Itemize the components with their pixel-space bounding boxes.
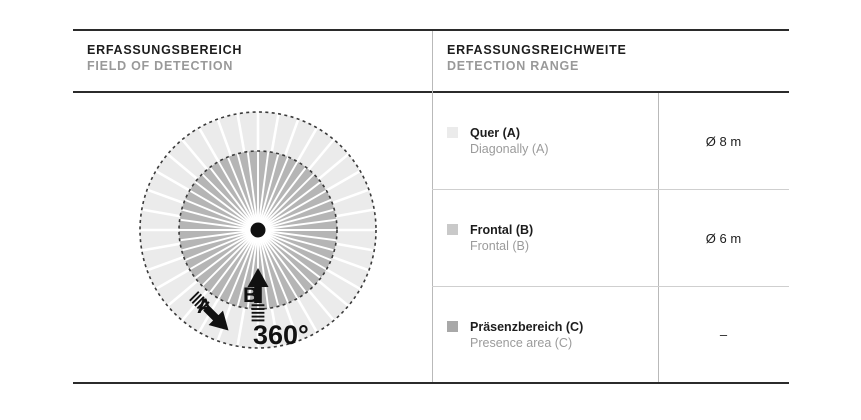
value-cell: Ø 6 m [658, 190, 789, 286]
range-value: – [720, 327, 727, 342]
legend-swatch-quer-a [447, 127, 458, 138]
table-row: Präsenzbereich (C) Presence area (C) – [432, 287, 789, 382]
legend-label-en: Diagonally (A) [470, 141, 549, 157]
legend-label-de: Quer (A) [470, 125, 549, 141]
value-cell: – [658, 287, 789, 382]
column-header-field-of-detection-en: FIELD OF DETECTION [87, 58, 242, 74]
table-bottom-rule [73, 382, 789, 384]
legend-cell: Frontal (B) Frontal (B) [432, 190, 658, 286]
range-value: Ø 6 m [706, 231, 741, 246]
table-row: Frontal (B) Frontal (B) Ø 6 m [432, 190, 789, 286]
table-top-rule [73, 29, 789, 31]
legend-label-en: Presence area (C) [470, 335, 583, 351]
legend-label-de: Präsenzbereich (C) [470, 319, 583, 335]
legend-swatch-frontal-b [447, 224, 458, 235]
arrow-b-label: B [243, 285, 258, 306]
arrow-a-label: A [197, 296, 212, 317]
column-header-field-of-detection: ERFASSUNGSBEREICH FIELD OF DETECTION [87, 43, 242, 74]
legend-swatch-praesenzbereich-c [447, 321, 458, 332]
detection-spec-sheet: ERFASSUNGSBEREICH FIELD OF DETECTION ERF… [0, 0, 861, 420]
table-row: Quer (A) Diagonally (A) Ø 8 m [432, 93, 789, 189]
detection-table: ERFASSUNGSBEREICH FIELD OF DETECTION ERF… [73, 29, 789, 384]
range-value: Ø 8 m [706, 134, 741, 149]
column-header-field-of-detection-de: ERFASSUNGSBEREICH [87, 43, 242, 58]
column-header-detection-range-en: DETECTION RANGE [447, 58, 627, 74]
sensor-center-dot [251, 223, 266, 238]
legend-cell: Quer (A) Diagonally (A) [432, 93, 658, 189]
coverage-angle-label: 360° [253, 322, 309, 349]
column-header-detection-range-de: ERFASSUNGSREICHWEITE [447, 43, 627, 58]
value-cell: Ø 8 m [658, 93, 789, 189]
detection-field-diagram: A B 360° [133, 105, 383, 365]
legend-cell: Präsenzbereich (C) Presence area (C) [432, 287, 658, 382]
legend-label-de: Frontal (B) [470, 222, 533, 238]
column-header-detection-range: ERFASSUNGSREICHWEITE DETECTION RANGE [447, 43, 627, 74]
legend-label-en: Frontal (B) [470, 238, 533, 254]
